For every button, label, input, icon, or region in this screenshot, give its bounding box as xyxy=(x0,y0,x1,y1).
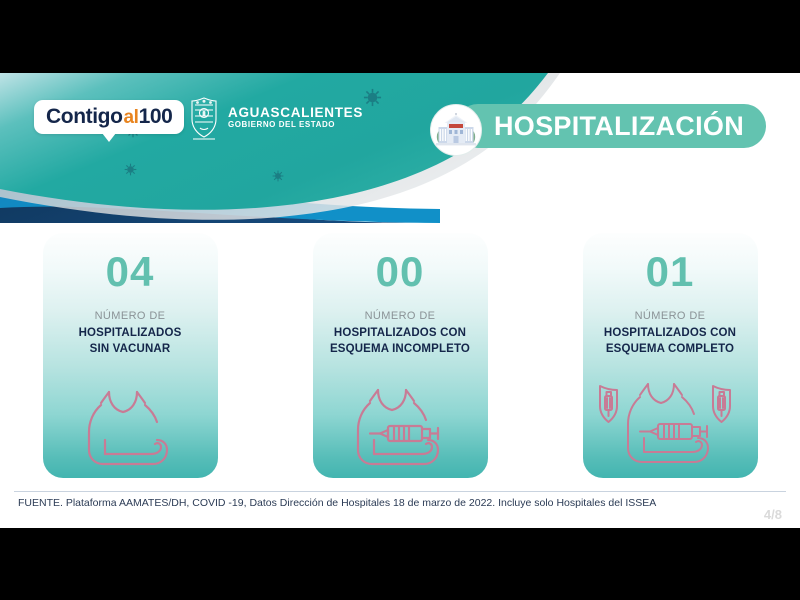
footer-source-text: FUENTE. Plataforma AAMATES/DH, COVID -19… xyxy=(18,497,656,509)
screenshot-viewport: Contigo al 100 xyxy=(0,0,800,600)
stat-label-top: NÚMERO DE xyxy=(365,310,436,322)
stat-label-main: HOSPITALIZADOS CON ESQUEMA COMPLETO xyxy=(598,326,742,357)
stat-card-complete-scheme: 01 NÚMERO DE HOSPITALIZADOS CON ESQUEMA … xyxy=(583,233,758,478)
page-indicator: 4/8 xyxy=(764,507,782,522)
stat-label-line1: HOSPITALIZADOS CON xyxy=(604,327,736,339)
stat-card-artwork xyxy=(43,388,218,470)
letterbox-top-bar xyxy=(0,0,800,73)
contigo-al-100-logo: Contigo al 100 xyxy=(34,100,184,134)
hospital-building-icon xyxy=(436,113,476,147)
stat-number: 00 xyxy=(376,251,425,293)
logo-word-100: 100 xyxy=(139,105,173,129)
stat-label-line2: ESQUEMA INCOMPLETO xyxy=(330,343,470,355)
stat-number: 04 xyxy=(106,251,155,293)
stat-label-main: HOSPITALIZADOS CON ESQUEMA INCOMPLETO xyxy=(324,326,476,357)
stat-card-artwork xyxy=(583,378,758,470)
slide-title-group: HOSPITALIZACIÓN xyxy=(430,104,766,148)
aguascalientes-government-logo: AGUASCALIENTES GOBIERNO DEL ESTADO xyxy=(187,95,363,141)
aguascalientes-subtitle: GOBIERNO DEL ESTADO xyxy=(228,121,363,129)
stat-label-line1: HOSPITALIZADOS xyxy=(79,327,182,339)
logo-word-al: al xyxy=(124,107,139,129)
letterbox-bottom-bar xyxy=(0,528,800,600)
logo-word-contigo: Contigo xyxy=(46,105,123,129)
aguascalientes-name: AGUASCALIENTES xyxy=(228,106,363,120)
hospital-icon-badge xyxy=(430,104,482,156)
stat-card-unvaccinated: 04 NÚMERO DE HOSPITALIZADOS SIN VACUNAR xyxy=(43,233,218,478)
footer-divider xyxy=(14,491,786,492)
arm-with-syringe-icon xyxy=(340,386,460,470)
stat-label-line2: SIN VACUNAR xyxy=(90,343,171,355)
arm-with-syringe-and-two-shields-icon xyxy=(590,378,750,470)
state-coat-of-arms-icon xyxy=(187,95,221,141)
stat-card-incomplete-scheme: 00 NÚMERO DE HOSPITALIZADOS CON ESQUEMA … xyxy=(313,233,488,478)
stat-number: 01 xyxy=(646,251,695,293)
page-title: HOSPITALIZACIÓN xyxy=(494,111,744,142)
stat-label-top: NÚMERO DE xyxy=(95,310,166,322)
stat-label-main: HOSPITALIZADOS SIN VACUNAR xyxy=(73,326,188,357)
stat-label-line2: ESQUEMA COMPLETO xyxy=(606,343,734,355)
slide-title-pill: HOSPITALIZACIÓN xyxy=(456,104,766,148)
stat-card-artwork xyxy=(313,386,488,470)
brand-logos: Contigo al 100 xyxy=(0,73,420,173)
stat-label-top: NÚMERO DE xyxy=(635,310,706,322)
presentation-slide: Contigo al 100 xyxy=(0,73,800,528)
stats-card-row: 04 NÚMERO DE HOSPITALIZADOS SIN VACUNAR xyxy=(0,233,800,478)
stat-label-line1: HOSPITALIZADOS CON xyxy=(334,327,466,339)
aguascalientes-logo-text: AGUASCALIENTES GOBIERNO DEL ESTADO xyxy=(228,106,363,130)
arm-unvaccinated-icon xyxy=(75,388,185,470)
